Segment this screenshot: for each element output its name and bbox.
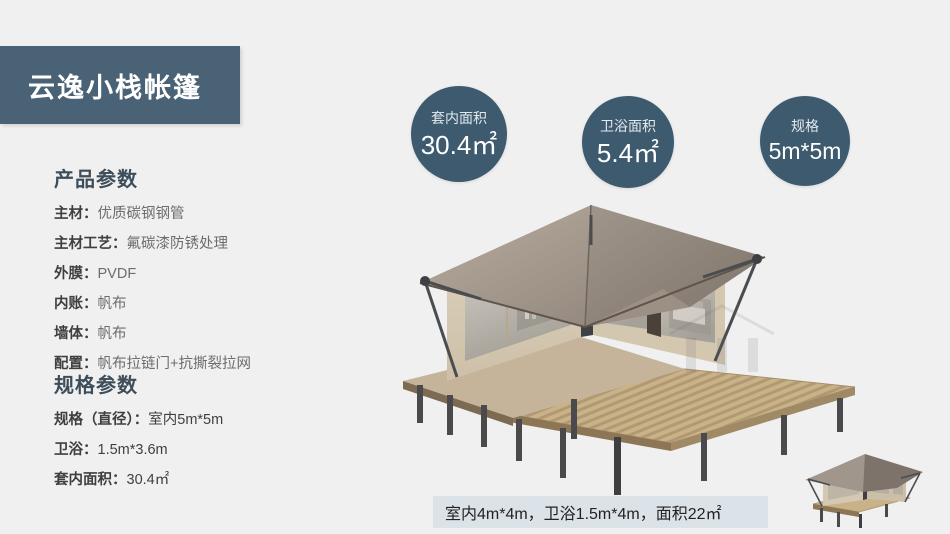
param-value: PVDF	[98, 266, 137, 282]
param-label: 规格（直径）：	[54, 412, 148, 428]
param-label: 卫浴：	[54, 442, 98, 458]
spec-row-size: 规格（直径）：室内5m*5m	[54, 405, 223, 435]
param-label: 外膜：	[54, 266, 98, 282]
param-row-wall: 墙体：帆布	[54, 319, 251, 349]
strut-joint-right	[752, 254, 762, 264]
param-value: 氟碳漆防锈处理	[127, 236, 229, 252]
param-row-outer-membrane: 外膜：PVDF	[54, 259, 251, 289]
spec-row-bathroom: 卫浴：1.5m*3.6m	[54, 435, 223, 465]
param-label: 主材工艺：	[54, 236, 127, 252]
page-title: 云逸小栈帐篷	[28, 66, 202, 105]
param-value: 1.5m*3.6m	[98, 442, 168, 458]
product-params-list: 主材：优质碳钢钢管 主材工艺：氟碳漆防锈处理 外膜：PVDF 内账：帆布 墙体：…	[54, 199, 251, 379]
stat-label: 规格	[791, 119, 819, 133]
stat-badge-bathroom-area: 卫浴面积 5.4㎡	[582, 96, 674, 188]
stat-value: 30.4㎡	[421, 132, 498, 158]
stat-label: 套内面积	[431, 111, 487, 125]
param-value: 优质碳钢钢管	[98, 206, 185, 222]
param-value: 室内5m*5m	[148, 412, 223, 428]
tent-illustration-thumbnail	[775, 448, 940, 534]
param-label: 内账：	[54, 296, 98, 312]
param-row-material-process: 主材工艺：氟碳漆防锈处理	[54, 229, 251, 259]
title-banner: 云逸小栈帐篷	[0, 46, 240, 124]
param-value: 帆布	[98, 296, 127, 312]
param-value: 30.4㎡	[127, 472, 170, 488]
stat-label: 卫浴面积	[600, 119, 656, 133]
spec-params-list: 规格（直径）：室内5m*5m 卫浴：1.5m*3.6m 套内面积：30.4㎡	[54, 405, 223, 495]
stat-badge-dimensions: 规格 5m*5m	[760, 96, 850, 186]
spec-params-heading: 规格参数	[54, 369, 138, 398]
stat-value: 5m*5m	[769, 140, 842, 163]
strut-joint-left	[420, 276, 430, 286]
stat-badge-interior-area: 套内面积 30.4㎡	[411, 86, 507, 182]
param-label: 墙体：	[54, 326, 98, 342]
spec-row-interior-area: 套内面积：30.4㎡	[54, 465, 223, 495]
param-value: 帆布	[98, 326, 127, 342]
product-params-heading: 产品参数	[54, 163, 138, 192]
param-label: 套内面积：	[54, 472, 127, 488]
caption-text: 室内4m*4m，卫浴1.5m*4m，面积22㎡	[445, 500, 722, 524]
param-label: 主材：	[54, 206, 98, 222]
stat-value: 5.4㎡	[597, 140, 659, 166]
param-row-inner-tent: 内账：帆布	[54, 289, 251, 319]
product-spec-page: 云逸小栈帐篷 产品参数 主材：优质碳钢钢管 主材工艺：氟碳漆防锈处理 外膜：PV…	[0, 0, 950, 534]
caption-bar: 室内4m*4m，卫浴1.5m*4m，面积22㎡	[433, 496, 768, 528]
param-row-main-material: 主材：优质碳钢钢管	[54, 199, 251, 229]
